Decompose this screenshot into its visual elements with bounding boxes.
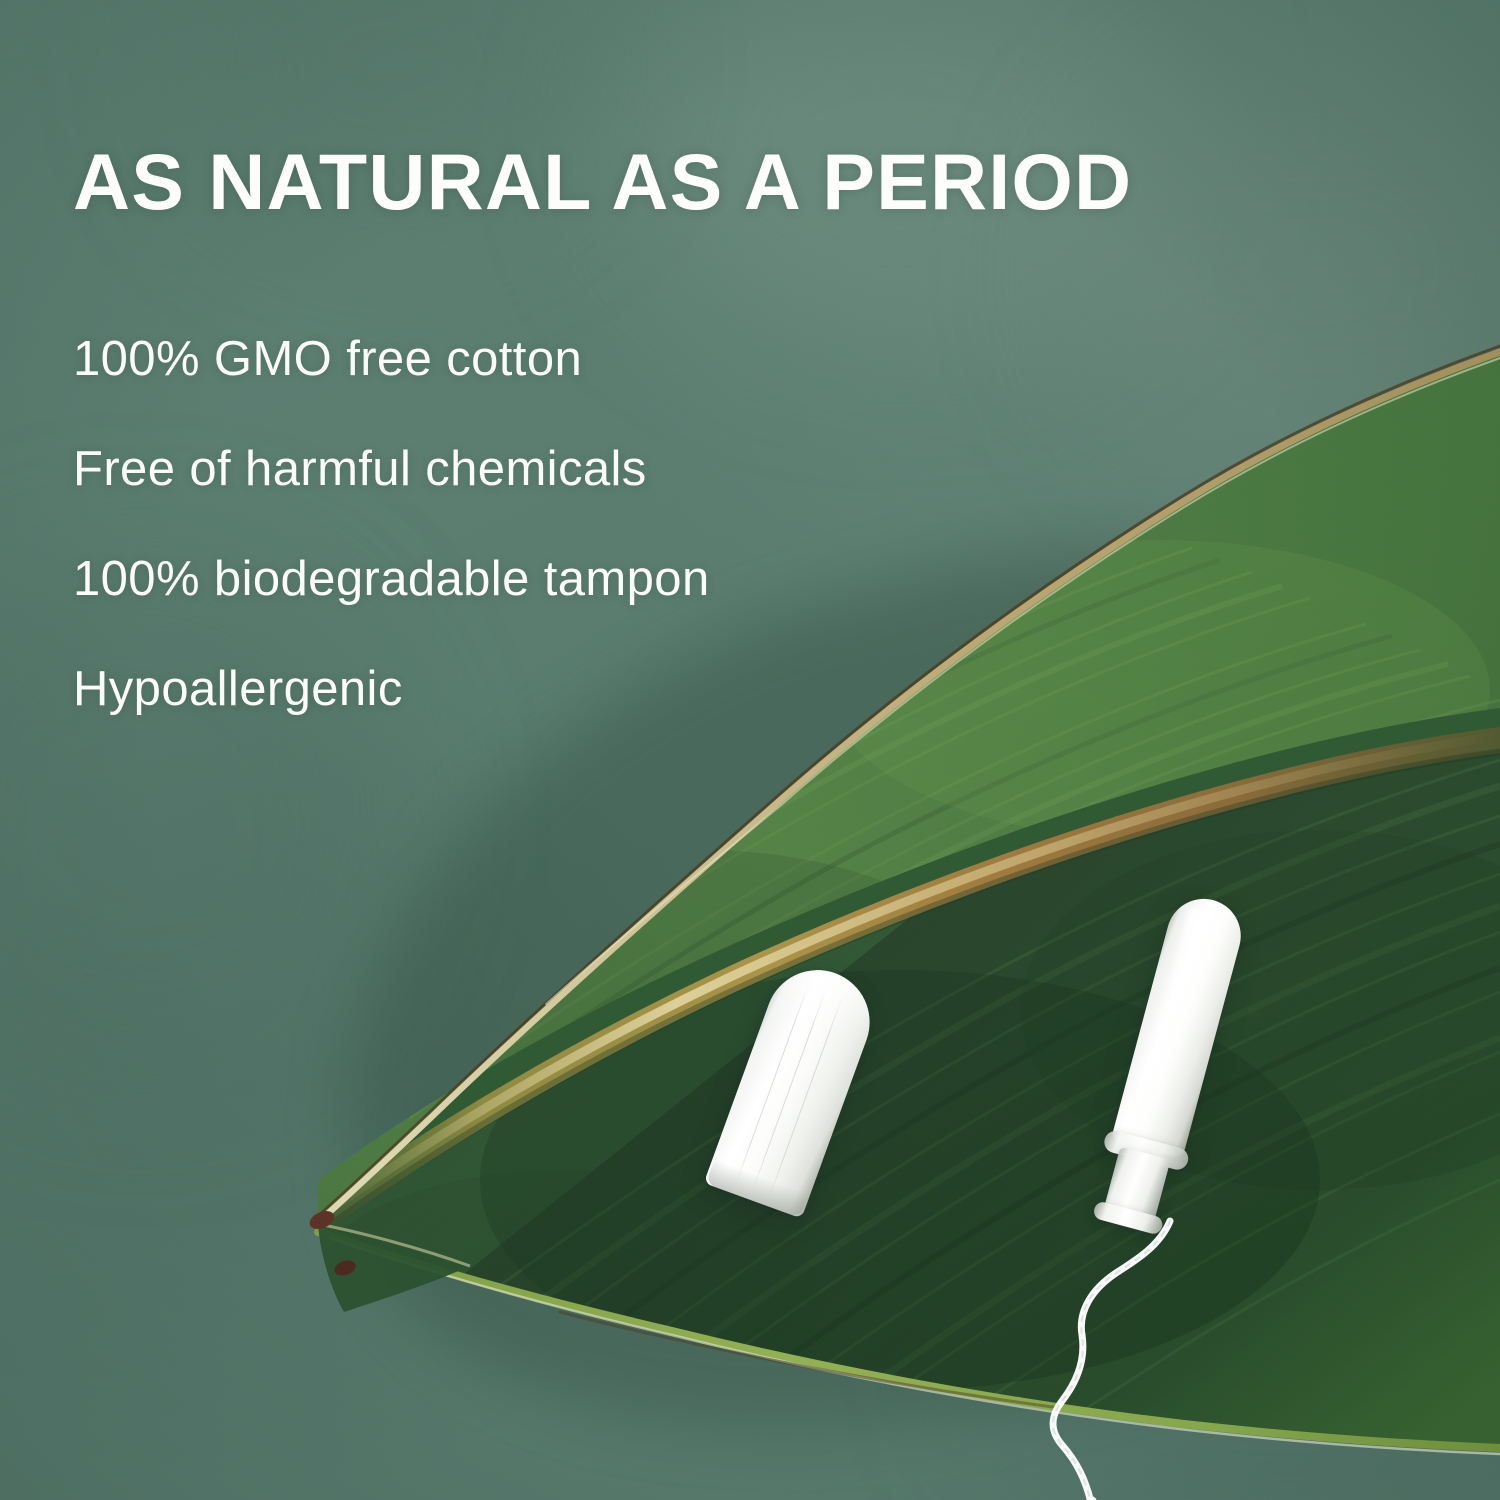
list-item: Free of harmful chemicals (73, 414, 973, 524)
list-item: 100% GMO free cotton (73, 304, 973, 414)
page-title: AS NATURAL AS A PERIOD (73, 142, 1132, 221)
tampon-string (1020, 1215, 1240, 1500)
list-item: Hypoallergenic (73, 634, 973, 744)
feature-list: 100% GMO free cotton Free of harmful che… (73, 304, 973, 744)
product-banner: AS NATURAL AS A PERIOD 100% GMO free cot… (0, 0, 1500, 1500)
list-item: 100% biodegradable tampon (73, 524, 973, 634)
